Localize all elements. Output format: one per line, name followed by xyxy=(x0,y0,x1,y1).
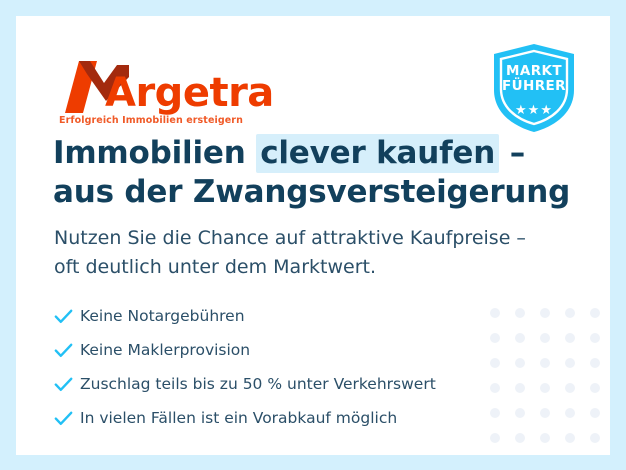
market-leader-badge: MARKT FÜHRER ★★★ xyxy=(490,42,578,134)
dot xyxy=(590,383,600,393)
subtitle-line-2: oft deutlich unter dem Marktwert. xyxy=(54,253,554,282)
dot xyxy=(540,408,550,418)
dot xyxy=(540,433,550,443)
list-item-label: In vielen Fällen ist ein Vorabkauf mögli… xyxy=(80,409,397,427)
list-item-label: Zuschlag teils bis zu 50 % unter Verkehr… xyxy=(80,375,436,393)
list-item-label: Keine Maklerprovision xyxy=(80,341,250,359)
dot xyxy=(540,308,550,318)
headline-line-1-before: Immobilien xyxy=(53,135,256,171)
dot xyxy=(565,308,575,318)
badge-line-2: FÜHRER xyxy=(490,79,578,94)
dot xyxy=(590,333,600,343)
badge-line-1: MARKT xyxy=(490,64,578,79)
list-item-label: Keine Notargebühren xyxy=(80,307,245,325)
logo-wordmark: Argetra xyxy=(105,73,274,113)
dot xyxy=(565,433,575,443)
list-item: In vielen Fällen ist ein Vorabkauf mögli… xyxy=(54,403,524,433)
list-item: Zuschlag teils bis zu 50 % unter Verkehr… xyxy=(54,369,524,399)
dot xyxy=(590,358,600,368)
check-icon xyxy=(54,411,80,426)
check-icon xyxy=(54,377,80,392)
benefits-list: Keine NotargebührenKeine Maklerprovision… xyxy=(54,301,524,437)
list-item: Keine Notargebühren xyxy=(54,301,524,331)
banner-card: Argetra Erfolgreich Immobilien ersteiger… xyxy=(16,16,610,455)
check-icon xyxy=(54,343,80,358)
headline-line-1: Immobilien clever kaufen – xyxy=(53,134,553,173)
dot xyxy=(565,333,575,343)
dot xyxy=(590,433,600,443)
badge-stars: ★★★ xyxy=(490,102,578,118)
dot xyxy=(565,383,575,393)
check-icon xyxy=(54,309,80,324)
dot xyxy=(565,408,575,418)
dot xyxy=(540,358,550,368)
subtitle: Nutzen Sie die Chance auf attraktive Kau… xyxy=(54,224,554,283)
list-item: Keine Maklerprovision xyxy=(54,335,524,365)
badge-text: MARKT FÜHRER xyxy=(490,64,578,93)
banner-root: Argetra Erfolgreich Immobilien ersteiger… xyxy=(0,0,626,470)
headline-line-1-after: – xyxy=(499,135,525,171)
dot xyxy=(565,358,575,368)
dot xyxy=(590,308,600,318)
dot xyxy=(540,333,550,343)
headline-highlight: clever kaufen xyxy=(256,134,499,173)
subtitle-line-1: Nutzen Sie die Chance auf attraktive Kau… xyxy=(54,224,554,253)
dot xyxy=(590,408,600,418)
headline-line-2: aus der Zwangsversteigerung xyxy=(53,173,553,212)
page-title: Immobilien clever kaufen – aus der Zwang… xyxy=(53,134,553,212)
argetra-logo[interactable]: Argetra Erfolgreich Immobilien ersteiger… xyxy=(57,45,277,130)
logo-tagline: Erfolgreich Immobilien ersteigern xyxy=(59,115,243,126)
dot xyxy=(540,383,550,393)
